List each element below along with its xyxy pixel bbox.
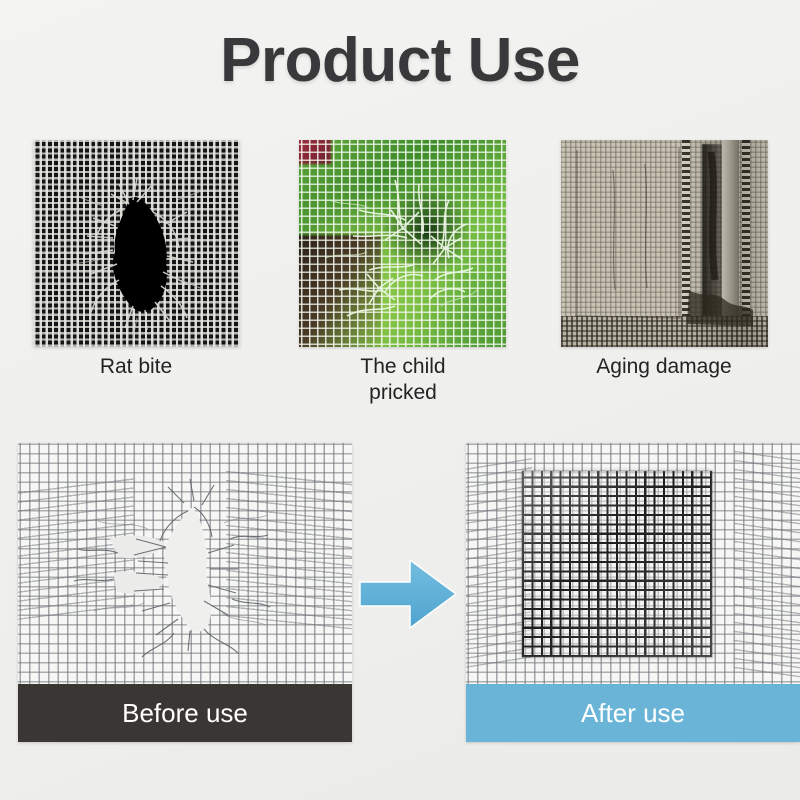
after-use-panel[interactable]: After use: [466, 443, 800, 742]
tear-overlay: [33, 140, 240, 347]
caption-rat-bite: Rat bite: [21, 354, 251, 380]
after-use-label: After use: [581, 698, 685, 729]
tear-overlay: [18, 443, 352, 684]
before-use-image: [18, 443, 352, 684]
damage-image-aging-damage: [561, 140, 768, 347]
right-arrow-icon: [358, 556, 458, 632]
damage-image-child-pricked: [299, 140, 506, 347]
before-use-label: Before use: [122, 698, 248, 729]
caption-line-1: The child: [288, 354, 518, 380]
after-use-banner: After use: [466, 684, 800, 742]
product-use-infographic: Product Use: [0, 0, 800, 800]
before-use-panel[interactable]: Before use: [18, 443, 352, 742]
damage-example-card-aging-damage[interactable]: [561, 140, 768, 347]
damage-example-card-child-pricked[interactable]: [299, 140, 506, 347]
before-use-banner: Before use: [18, 684, 352, 742]
page-title: Product Use: [0, 28, 800, 93]
wear-overlay: [561, 140, 768, 347]
damage-image-rat-bite: [33, 140, 240, 347]
damage-example-card-rat-bite[interactable]: [33, 140, 240, 347]
after-use-image: [466, 443, 800, 684]
caption-child-pricked: The child pricked: [288, 354, 518, 405]
patch-edge-overlay: [466, 443, 800, 684]
tear-overlay: [299, 140, 506, 347]
caption-aging-damage: Aging damage: [549, 354, 779, 380]
caption-line-2: pricked: [288, 380, 518, 406]
